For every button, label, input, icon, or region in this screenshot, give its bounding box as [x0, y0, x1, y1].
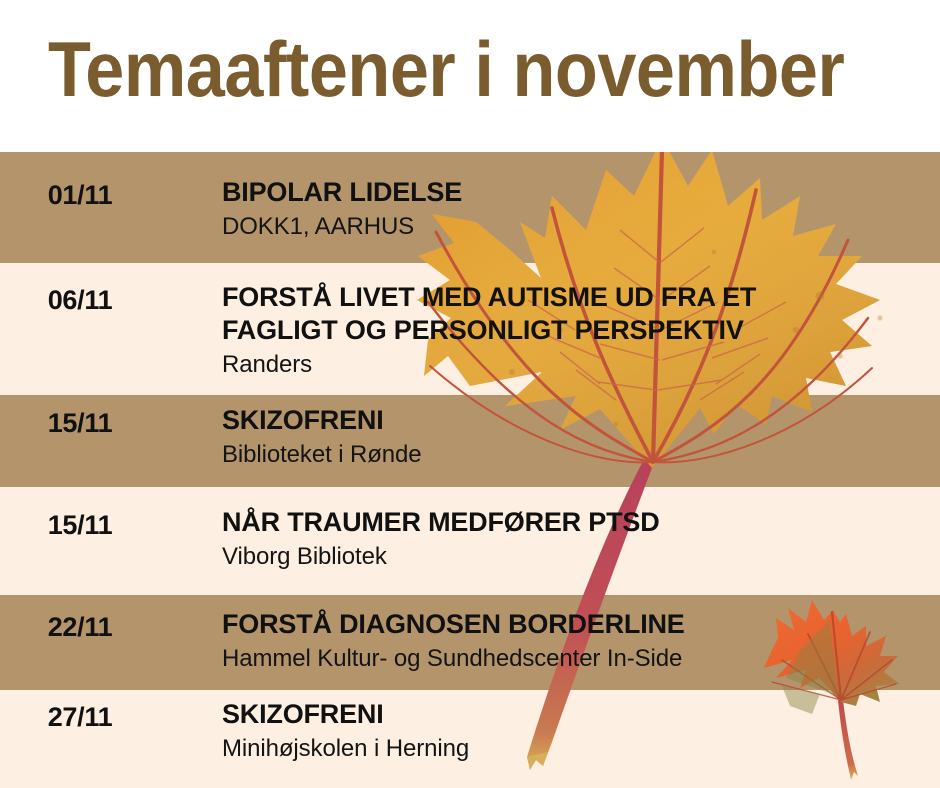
event-venue: Viborg Bibliotek — [222, 541, 940, 572]
schedule-row[interactable]: 15/11NÅR TRAUMER MEDFØRER PTSDViborg Bib… — [0, 506, 940, 572]
event-venue: DOKK1, AARHUS — [222, 211, 940, 242]
schedule-row[interactable]: 06/11FORSTÅ LIVET MED AUTISME UD FRA ET … — [0, 281, 940, 380]
event-title: SKIZOFRENI — [222, 698, 940, 731]
event-date: 01/11 — [0, 176, 160, 212]
event-body: SKIZOFRENIMinihøjskolen i Herning — [160, 698, 940, 764]
event-venue: Biblioteket i Rønde — [222, 439, 940, 470]
event-title: FORSTÅ DIAGNOSEN BORDERLINE — [222, 608, 940, 641]
event-body: FORSTÅ LIVET MED AUTISME UD FRA ET FAGLI… — [160, 281, 940, 380]
event-title: BIPOLAR LIDELSE — [222, 176, 940, 209]
event-body: NÅR TRAUMER MEDFØRER PTSDViborg Bibliote… — [160, 506, 940, 572]
page-title: Temaaftener i november — [48, 26, 844, 112]
event-venue: Hammel Kultur- og Sundhedscenter In-Side — [222, 643, 940, 674]
schedule-row[interactable]: 15/11SKIZOFRENIBiblioteket i Rønde — [0, 404, 940, 470]
event-date: 15/11 — [0, 404, 160, 440]
event-date: 15/11 — [0, 506, 160, 542]
event-body: FORSTÅ DIAGNOSEN BORDERLINEHammel Kultur… — [160, 608, 940, 674]
event-venue: Randers — [222, 349, 940, 380]
event-body: SKIZOFRENIBiblioteket i Rønde — [160, 404, 940, 470]
poster-header: Temaaftener i november — [0, 0, 940, 152]
event-date: 22/11 — [0, 608, 160, 644]
event-body: BIPOLAR LIDELSEDOKK1, AARHUS — [160, 176, 940, 242]
schedule-row[interactable]: 01/11BIPOLAR LIDELSEDOKK1, AARHUS — [0, 176, 940, 242]
event-date: 27/11 — [0, 698, 160, 734]
event-title: SKIZOFRENI — [222, 404, 940, 437]
event-title: FORSTÅ LIVET MED AUTISME UD FRA ET FAGLI… — [222, 281, 842, 347]
schedule-row[interactable]: 22/11FORSTÅ DIAGNOSEN BORDERLINEHammel K… — [0, 608, 940, 674]
event-venue: Minihøjskolen i Herning — [222, 733, 940, 764]
event-title: NÅR TRAUMER MEDFØRER PTSD — [222, 506, 940, 539]
event-date: 06/11 — [0, 281, 160, 317]
poster-canvas: Temaaftener i november 01/11BIPOLAR LIDE… — [0, 0, 940, 788]
schedule-row[interactable]: 27/11SKIZOFRENIMinihøjskolen i Herning — [0, 698, 940, 764]
